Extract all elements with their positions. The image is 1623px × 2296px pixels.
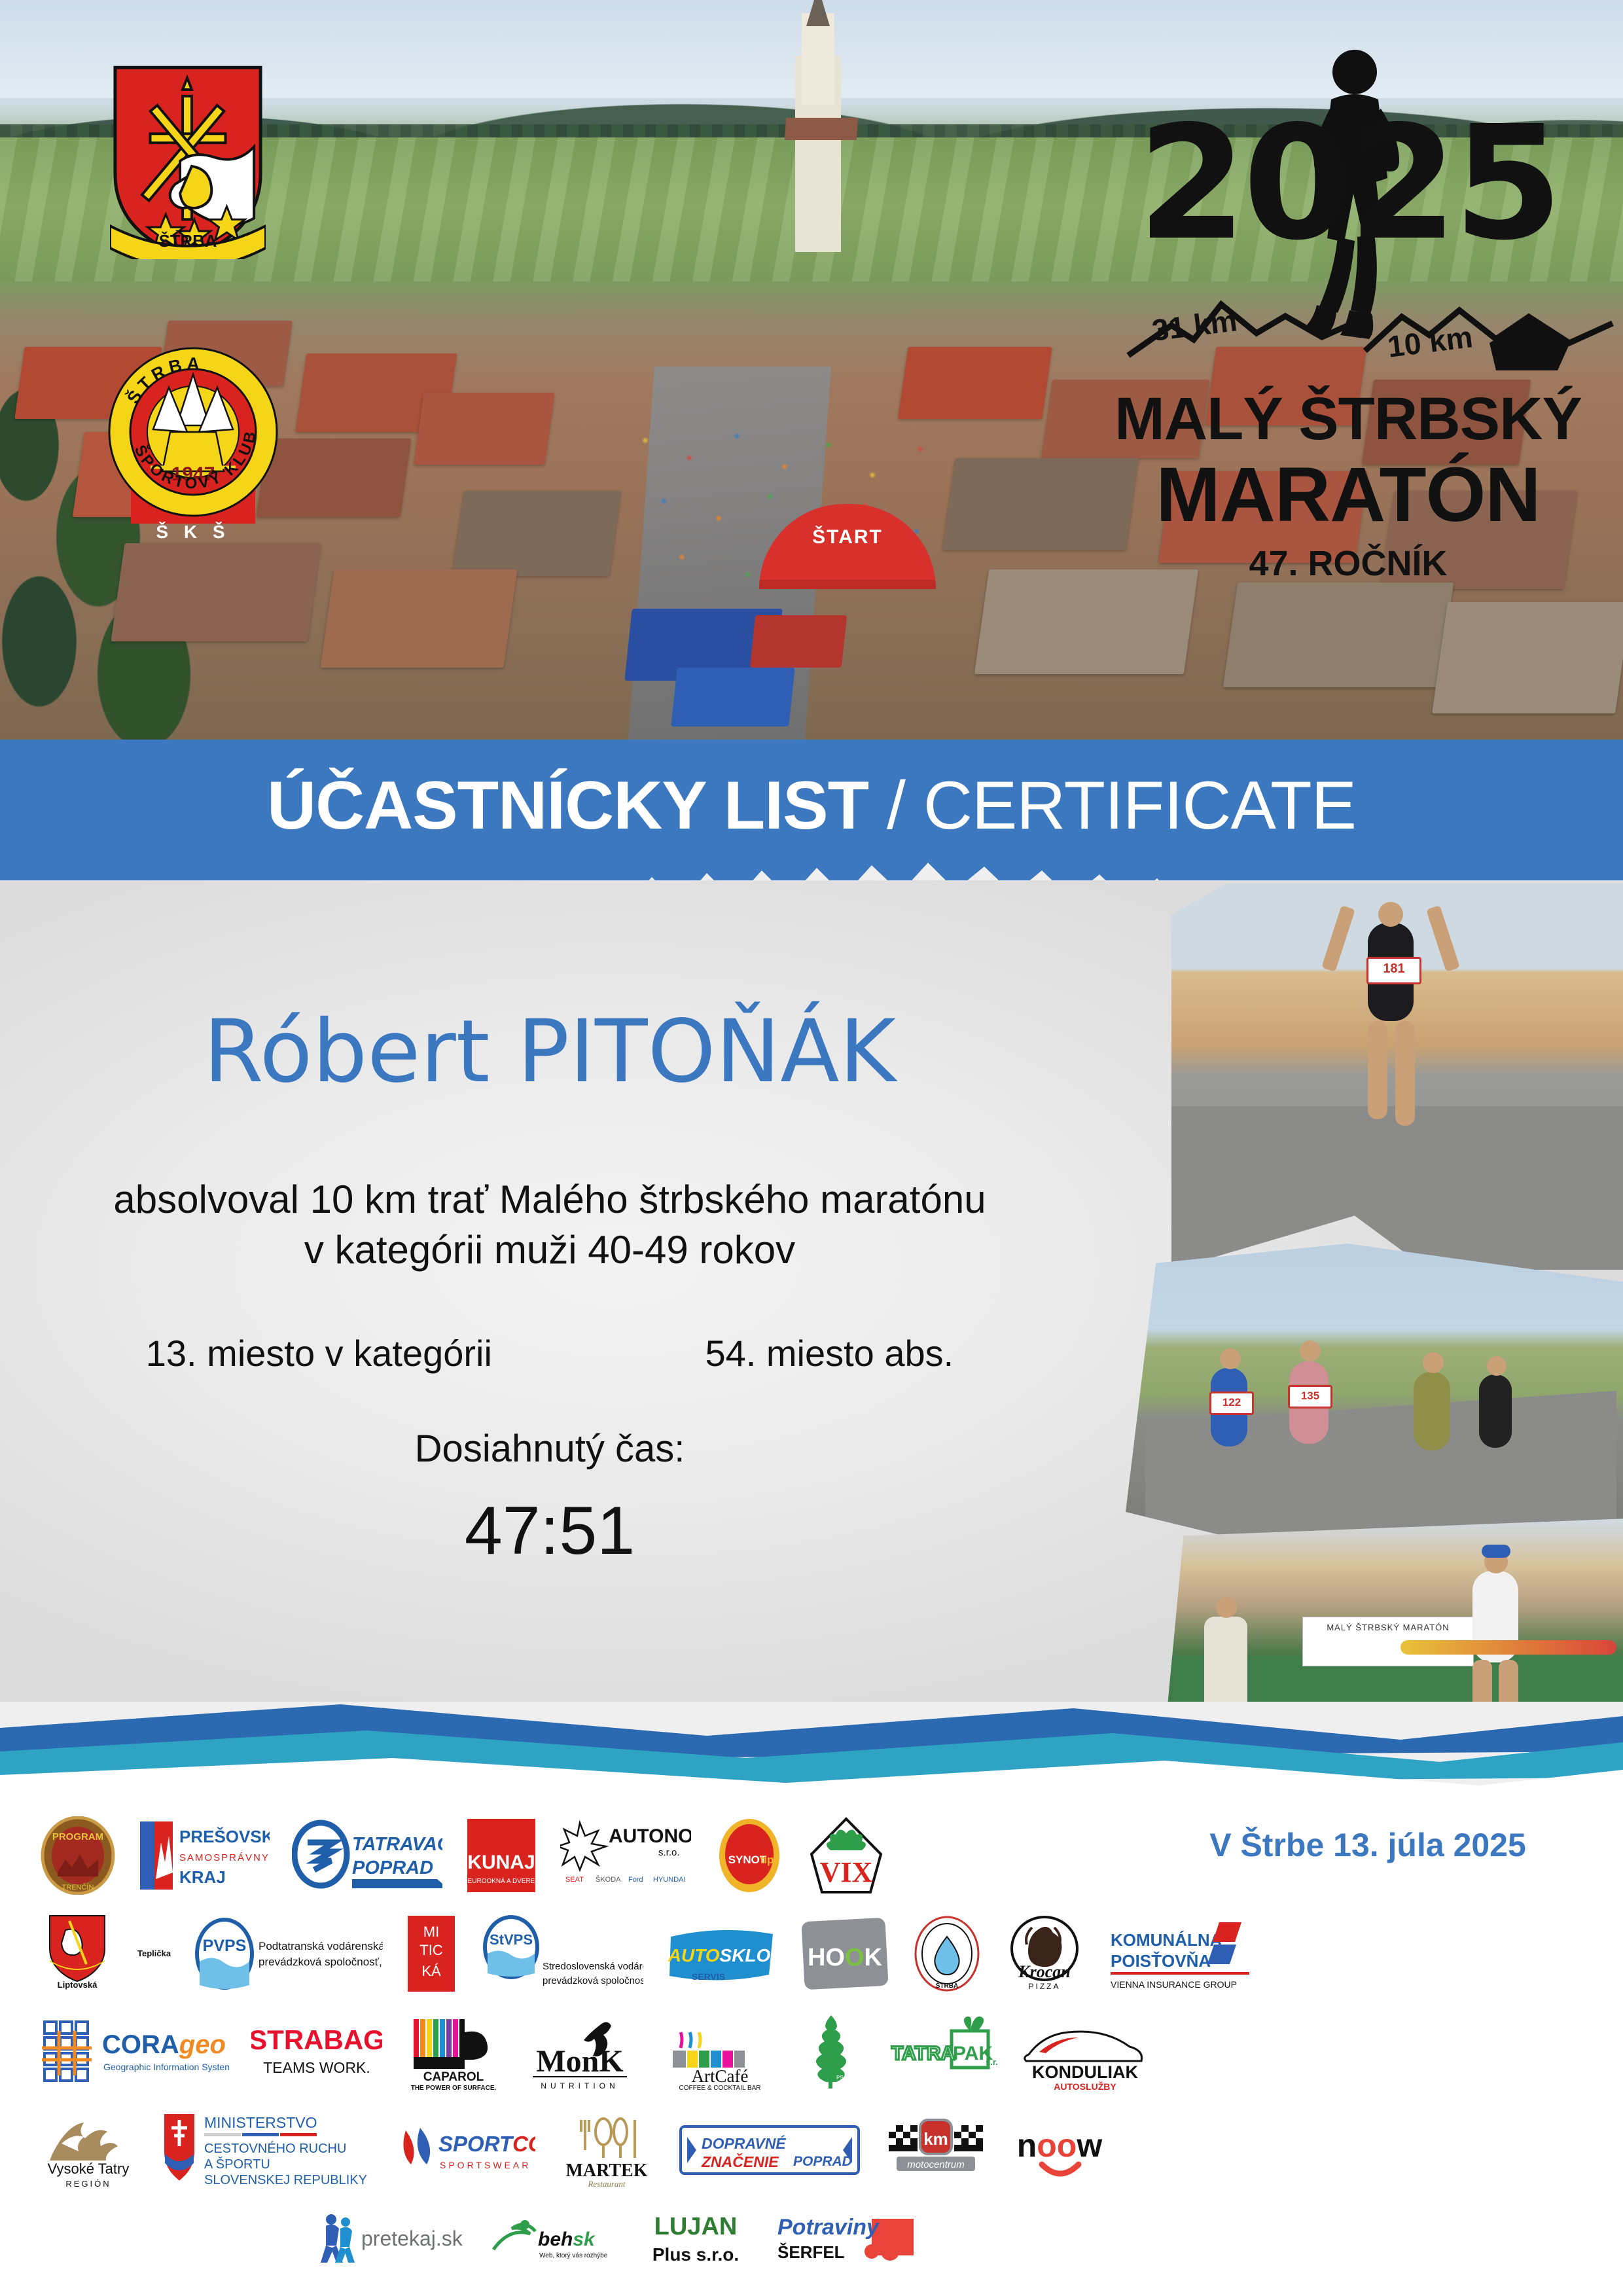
sponsor-krocan-pizza: Krocan PIZZA (1003, 1914, 1086, 1993)
event-logo: 2025 31 km 10 km MALÝ ŠTRBSKÝ MARATÓN 47… (1073, 26, 1623, 602)
sponsor-liptovska-teplicka-label: Teplička (137, 1914, 171, 1993)
sponsor-miticka: MI TIC KÁ (405, 1914, 457, 1993)
svg-text:behsk: behsk (538, 2229, 596, 2250)
sponsor-section: PROGRAM TRENČÍN PREŠOVSKÝ SAMOSPRÁVNY KR… (0, 1793, 1623, 2296)
church-roof (785, 118, 858, 140)
svg-text:VIX: VIX (820, 1856, 873, 1888)
svg-text:Š K Š: Š K Š (156, 521, 230, 542)
svg-text:MonK: MonK (536, 2044, 623, 2079)
svg-text:POPRAD: POPRAD (352, 1857, 433, 1878)
svg-text:Vysoké Tatry: Vysoké Tatry (48, 2161, 130, 2177)
svg-text:Krocan: Krocan (1018, 1962, 1070, 1981)
svg-text:ŠTRBA: ŠTRBA (936, 1981, 958, 1990)
church-tower (802, 13, 834, 105)
svg-text:THE POWER OF SURFACE.: THE POWER OF SURFACE. (411, 2085, 497, 2091)
svg-text:motocentrum: motocentrum (907, 2159, 965, 2170)
svg-text:REGIÓN: REGIÓN (65, 2179, 111, 2189)
certificate-description: absolvoval 10 km trať Malého štrbského m… (39, 1175, 1060, 1276)
svg-text:TRENČÍN: TRENČÍN (62, 1883, 94, 1892)
svg-text:POPRAD: POPRAD (793, 2154, 852, 2169)
sponsor-sportcool: SPORTCOOL SPORTSWEAR (398, 2111, 535, 2189)
svg-text:SPORTSWEAR: SPORTSWEAR (440, 2160, 531, 2170)
sponsor-monk-nutrition: MonK NUTRITION (525, 2013, 643, 2091)
svg-text:KUNAJ: KUNAJ (467, 1852, 535, 1873)
sponsor-pretekaj: pretekaj.sk (314, 2199, 465, 2278)
svg-text:SPORTCOOL: SPORTCOOL (438, 2132, 535, 2156)
svg-text:VIENNA INSURANCE GROUP: VIENNA INSURANCE GROUP (1111, 1979, 1237, 1990)
sponsor-strabag: STRABAG TEAMS WORK. (251, 2013, 382, 2091)
sponsor-ministerstvo: MINISTERSTVO CESTOVNÉHO RUCHU A ŠPORTU S… (160, 2111, 376, 2189)
svg-text:LUJAN: LUJAN (654, 2213, 738, 2240)
svg-text:SEAT: SEAT (565, 1876, 584, 1884)
svg-text:EUROOKNÁ A DVERE: EUROOKNÁ A DVERE (468, 1876, 535, 1885)
event-title-line2: MARATÓN (1073, 450, 1623, 539)
svg-text:Potraviny: Potraviny (777, 2215, 880, 2240)
sponsor-autosklo: AUTOSKLO SERVIS (666, 1914, 777, 1993)
event-tent (671, 668, 794, 726)
svg-text:prevádzková spoločnosť, a.s.: prevádzková spoločnosť, a.s. (543, 1975, 643, 1986)
svg-text:noow: noow (1017, 2127, 1103, 2164)
sponsor-row: CORAgeo Geographic Information Systems S… (39, 2003, 1152, 2101)
sponsor-hook: HOOK (799, 1914, 891, 1993)
svg-text:HYUNDAI: HYUNDAI (653, 1876, 686, 1884)
svg-text:Podtatranská vodárenská: Podtatranská vodárenská (259, 1940, 383, 1952)
sponsor-tatrapak: TATRA PAK s.r.o. (886, 2013, 997, 2091)
svg-text:Restaurant: Restaurant (587, 2179, 625, 2189)
svg-text:TATRA: TATRA (891, 2043, 955, 2064)
sponsor-tatravagonka: TATRAVAGÓNKA POPRAD (292, 1816, 442, 1895)
time-value: 47:51 (39, 1492, 1060, 1570)
bottom-wave-divider (0, 1702, 1623, 1806)
sponsor-program: PROGRAM TRENČÍN (39, 1816, 116, 1895)
participant-name: Róbert PITOŇÁK (39, 1001, 1060, 1102)
svg-text:KONDULIAK: KONDULIAK (1032, 2062, 1138, 2082)
svg-text:SLOVENSKEJ REPUBLIKY: SLOVENSKEJ REPUBLIKY (204, 2173, 367, 2187)
description-line-2: v kategórii muži 40-49 rokov (39, 1225, 1060, 1276)
svg-text:SAMOSPRÁVNY: SAMOSPRÁVNY (179, 1852, 270, 1863)
event-year: 2025 (1086, 105, 1610, 262)
sponsor-autonova: AUTONOVA s.r.o. SEAT ŠKODA Ford HYUNDAI (560, 1816, 691, 1895)
svg-text:s.r.o.: s.r.o. (658, 1847, 680, 1858)
date-place: V Štrbe 13. júla 2025 (1158, 1826, 1577, 1864)
sponsor-noow: noow (1010, 2111, 1109, 2189)
svg-text:KRAJ: KRAJ (179, 1867, 226, 1887)
svg-text:Liptovská: Liptovská (58, 1980, 98, 1990)
sponsor-row: Vysoké Tatry REGIÓN MINISTERSTVO (39, 2101, 1152, 2199)
certificate-page: ŠTART (0, 0, 1623, 2296)
svg-text:AUTONOVA: AUTONOVA (609, 1825, 691, 1847)
svg-text:STRABAG: STRABAG (251, 2024, 382, 2055)
svg-text:ŠTRBA: ŠTRBA (159, 231, 217, 251)
svg-text:PIZZA: PIZZA (1029, 1982, 1061, 1991)
placement-row: 13. miesto v kategórii 54. miesto abs. (39, 1332, 1060, 1374)
svg-text:prevádzková spoločnosť, a.s.: prevádzková spoločnosť, a.s. (259, 1956, 383, 1968)
svg-text:CAPAROL: CAPAROL (423, 2070, 484, 2084)
sponsor-corageo: CORAgeo Geographic Information Systems (39, 2013, 229, 2091)
svg-text:Ford: Ford (628, 1876, 643, 1884)
sponsor-km-motocentrum: km motocentrum (883, 2111, 988, 2189)
sponsor-behsk: behsk Web, ktorý vás rozhýbe (487, 2199, 618, 2278)
svg-text:Stredoslovenská vodárenská: Stredoslovenská vodárenská (543, 1961, 643, 1972)
svg-text:HOOK: HOOK (808, 1944, 883, 1971)
event-title-line1: MALÝ ŠTRBSKÝ (1073, 385, 1623, 454)
sponsor-grid: PROGRAM TRENČÍN PREŠOVSKÝ SAMOSPRÁVNY KR… (39, 1806, 1152, 2278)
svg-text:km: km (923, 2129, 948, 2149)
svg-text:Plus s.r.o.: Plus s.r.o. (652, 2244, 739, 2265)
svg-text:ZNAČENIE: ZNAČENIE (701, 2153, 779, 2170)
sponsor-synottip: SYNOT tip (713, 1816, 785, 1895)
svg-text:StVPS: StVPS (490, 1931, 533, 1948)
svg-text:AUTOSKLO: AUTOSKLO (668, 1945, 771, 1965)
sponsor-artcafe: ArtCafé COFFEE & COCKTAIL BAR (665, 2013, 776, 2091)
svg-text:TEAMS WORK.: TEAMS WORK. (263, 2059, 370, 2076)
photo-finisher-female: 181 (1171, 884, 1623, 1270)
header-photo: ŠTART (0, 0, 1623, 740)
bib-number: 122 (1209, 1391, 1254, 1415)
sponsor-liptovska-teplicka: Liptovská (39, 1914, 115, 1993)
svg-text:ŠTRBA: ŠTRBA (836, 2081, 859, 2089)
svg-text:KÁ: KÁ (421, 1963, 441, 1979)
svg-text:CESTOVNÉHO RUCHU: CESTOVNÉHO RUCHU (204, 2141, 346, 2156)
event-edition: 47. ROČNÍK (1073, 543, 1623, 584)
category-place: 13. miesto v kategórii (146, 1332, 492, 1374)
time-label: Dosiahnutý čas: (39, 1427, 1060, 1471)
svg-text:POISŤOVŇA: POISŤOVŇA (1111, 1951, 1211, 1971)
svg-text:KOMUNÁLNA: KOMUNÁLNA (1111, 1930, 1222, 1950)
description-line-1: absolvoval 10 km trať Malého štrbského m… (39, 1175, 1060, 1225)
svg-text:CORAgeo: CORAgeo (102, 2030, 226, 2059)
svg-text:DOPRAVNÉ: DOPRAVNÉ (702, 2134, 786, 2152)
page-title: ÚČASTNÍCKY LIST / CERTIFICATE (0, 767, 1623, 845)
svg-text:s.r.o.: s.r.o. (986, 2057, 997, 2067)
sponsor-caparol: CAPAROL THE POWER OF SURFACE. (404, 2013, 503, 2091)
bib-number: 181 (1366, 957, 1421, 984)
sponsor-pvps: PVPS Podtatranská vodárenská prevádzková… (193, 1914, 383, 1993)
svg-text:PS URBÁR: PS URBÁR (836, 2075, 863, 2081)
sponsor-potraviny-serfel: Potraviny ŠERFEL (774, 2199, 918, 2278)
sponsor-presovsky-kraj: PREŠOVSKÝ SAMOSPRÁVNY KRAJ (139, 1816, 270, 1895)
church-spire (806, 0, 830, 26)
svg-text:Web, ktorý vás rozhýbe: Web, ktorý vás rozhýbe (539, 2252, 608, 2259)
sponsor-dopravne-znacenie: DOPRAVNÉ ZNAČENIE POPRAD (678, 2111, 861, 2189)
svg-text:COFFEE & COCKTAIL BAR: COFFEE & COCKTAIL BAR (679, 2085, 760, 2091)
absolute-place: 54. miesto abs. (705, 1332, 954, 1374)
event-tent-red (750, 615, 847, 668)
svg-text:MI: MI (423, 1924, 439, 1940)
svg-text:SERVIS: SERVIS (692, 1971, 725, 1982)
sponsor-row: pretekaj.sk behsk Web, ktorý vás rozhýbe… (39, 2199, 1152, 2278)
sponsor-martek: MARTEK Restaurant (558, 2111, 656, 2189)
sponsor-row: Liptovská Teplička PVPS Podtatranská vod… (39, 1905, 1152, 2003)
strba-municipal-crest-icon: ŠTRBA (110, 63, 266, 259)
svg-text:A ŠPORTU: A ŠPORTU (204, 2157, 270, 2172)
bib-number: 135 (1288, 1385, 1332, 1408)
svg-text:PVPS: PVPS (203, 1937, 247, 1955)
photo-collage: 181 122 135 MALÝ ŠTRBSKÝ MARATÓN (1113, 877, 1623, 1734)
sponsor-label: PROGRAM (52, 1831, 103, 1842)
svg-text:TIC: TIC (419, 1942, 443, 1958)
svg-text:ArtCafé: ArtCafé (692, 2066, 749, 2086)
sponsor-pd-strba: ŠTRBA (913, 1914, 981, 1993)
svg-text:ŠERFEL: ŠERFEL (777, 2242, 845, 2262)
svg-text:MINISTERSTVO: MINISTERSTVO (204, 2114, 317, 2131)
svg-text:Geographic Information Systems: Geographic Information Systems (103, 2062, 229, 2072)
sks-club-logo-icon: 1947 ŠTRBA ŠPORTOVÝ KLUB Š K Š (105, 327, 281, 543)
svg-text:NUTRITION: NUTRITION (541, 2081, 618, 2090)
sponsor-lujan-plus: LUJAN Plus s.r.o. (640, 2199, 751, 2278)
sponsor-konduliak: KONDULIAK AUTOSLUŽBY (1020, 2013, 1150, 2091)
sponsor-ps-urbar-strba: PS URBÁR ŠTRBA (798, 2013, 864, 2091)
svg-text:MARTEK: MARTEK (565, 2161, 647, 2181)
sponsor-vix: VIX (808, 1816, 885, 1895)
svg-text:PREŠOVSKÝ: PREŠOVSKÝ (179, 1827, 270, 1846)
svg-text:TATRAVAGÓNKA: TATRAVAGÓNKA (352, 1833, 442, 1855)
sponsor-vysoke-tatry: Vysoké Tatry REGIÓN (39, 2111, 137, 2189)
sponsor-kunaj: KUNAJ EUROOKNÁ A DVERE (465, 1816, 538, 1895)
title-english: CERTIFICATE (923, 768, 1356, 844)
svg-text:pretekaj.sk: pretekaj.sk (361, 2227, 463, 2250)
sponsor-stvps: StVPS Stredoslovenská vodárenská prevádz… (480, 1914, 643, 1993)
title-separator: / (887, 768, 905, 844)
svg-text:ŠKODA: ŠKODA (596, 1875, 621, 1884)
svg-text:tip: tip (760, 1854, 774, 1866)
sponsor-komunalna-poistovna: KOMUNÁLNA POISŤOVŇA VIENNA INSURANCE GRO… (1108, 1914, 1252, 1993)
start-arch-label: ŠTART (759, 526, 936, 548)
sponsor-row: PROGRAM TRENČÍN PREŠOVSKÝ SAMOSPRÁVNY KR… (39, 1806, 1152, 1905)
svg-text:AUTOSLUŽBY: AUTOSLUŽBY (1054, 2081, 1116, 2091)
title-slovak: ÚČASTNÍCKY LIST (267, 768, 868, 844)
